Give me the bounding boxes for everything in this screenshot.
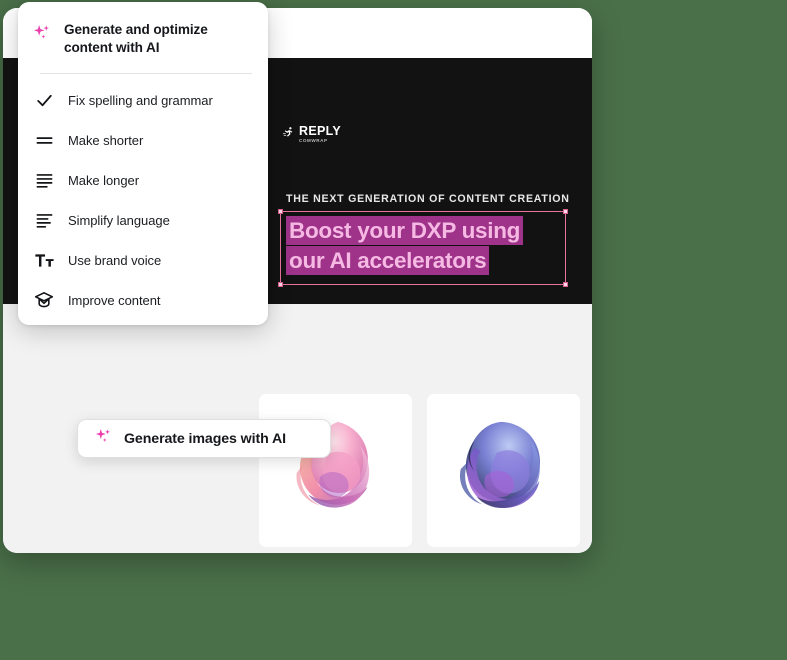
runner-icon <box>282 126 295 144</box>
selection-handle-top-left[interactable] <box>278 209 283 214</box>
menu-item-make-longer[interactable]: Make longer <box>18 160 268 200</box>
menu-item-use-brand-voice[interactable]: Use brand voice <box>18 240 268 280</box>
generate-images-button-label: Generate images with AI <box>124 431 286 447</box>
selection-handle-bottom-left[interactable] <box>278 282 283 287</box>
hero-headline[interactable]: Boost your DXP using our AI accelerators <box>286 216 566 276</box>
menu-item-make-shorter[interactable]: Make shorter <box>18 120 268 160</box>
menu-item-label: Use brand voice <box>68 253 161 268</box>
brand-sub: COMWRAP <box>299 139 341 144</box>
blue-purple-abstract-swirl-image <box>445 412 563 530</box>
make-shorter-icon <box>32 128 56 152</box>
graduation-cap-icon <box>32 288 56 312</box>
selection-handle-bottom-right[interactable] <box>563 282 568 287</box>
menu-item-improve-content[interactable]: Improve content <box>18 280 268 320</box>
menu-item-label: Make longer <box>68 173 139 188</box>
ai-menu-popover: Generate and optimize content with AI Fi… <box>18 2 268 325</box>
selection-handle-top-right[interactable] <box>563 209 568 214</box>
menu-item-simplify-language[interactable]: Simplify language <box>18 200 268 240</box>
ai-menu-list: Fix spelling and grammar Make shorter <box>18 74 268 320</box>
image-grid <box>259 394 580 547</box>
hero-eyebrow: THE NEXT GENERATION OF CONTENT CREATION <box>286 193 570 205</box>
ai-menu-title: Generate and optimize content with AI <box>64 21 250 57</box>
simplify-language-icon <box>32 208 56 232</box>
menu-item-label: Simplify language <box>68 213 170 228</box>
hero-headline-line-2: our AI accelerators <box>286 246 489 275</box>
image-card[interactable] <box>259 394 412 547</box>
brand-name: REPLY <box>299 125 341 138</box>
brand-voice-icon <box>32 248 56 272</box>
make-longer-icon <box>32 168 56 192</box>
menu-item-label: Improve content <box>68 293 160 308</box>
image-card[interactable] <box>427 394 580 547</box>
menu-item-fix-spelling-and-grammar[interactable]: Fix spelling and grammar <box>18 80 268 120</box>
check-icon <box>32 88 56 112</box>
generate-images-with-ai-button[interactable]: Generate images with AI <box>77 419 331 458</box>
menu-item-label: Fix spelling and grammar <box>68 93 213 108</box>
sparkle-icon <box>32 23 52 48</box>
hero-headline-line-1: Boost your DXP using <box>286 216 523 245</box>
menu-item-label: Make shorter <box>68 133 143 148</box>
ai-menu-header: Generate and optimize content with AI <box>18 2 268 57</box>
brand-logo: REPLY COMWRAP <box>282 125 341 144</box>
sparkle-icon <box>94 427 113 451</box>
